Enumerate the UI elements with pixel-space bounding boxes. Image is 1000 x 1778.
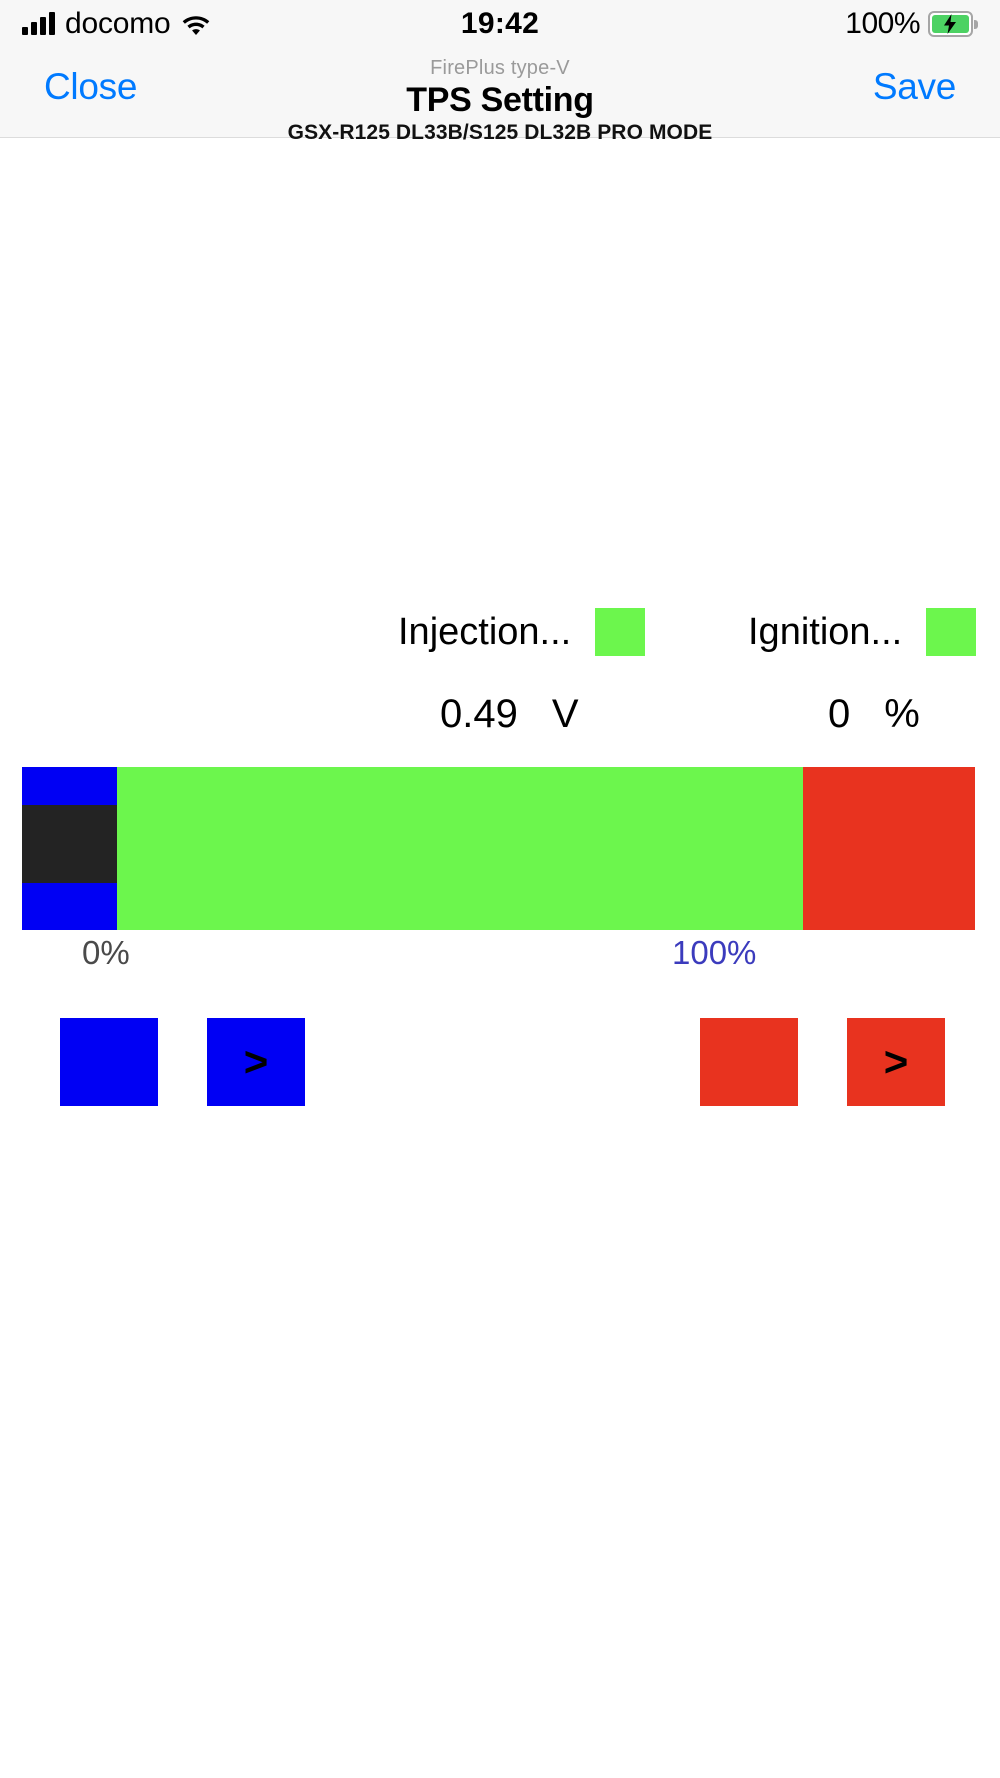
range-bar-min-segment <box>22 767 117 930</box>
status-bar-left: docomo <box>22 7 211 41</box>
battery-charging-icon <box>928 11 978 37</box>
navigation-title-group: FirePlus type-V TPS Setting GSX-R125 DL3… <box>0 56 1000 146</box>
status-bar-right: 100% <box>845 7 978 41</box>
page-subtitle: GSX-R125 DL33B/S125 DL32B PRO MODE <box>0 120 1000 146</box>
range-bar-min-knob[interactable] <box>22 805 117 883</box>
scale-label-min: 0% <box>82 934 130 972</box>
battery-percent-label: 100% <box>845 7 920 41</box>
app-name-label: FirePlus type-V <box>0 56 1000 80</box>
range-scale-row: 0% 100% <box>0 934 1000 980</box>
legend-item-injection: Injection... <box>398 608 645 656</box>
scale-label-max: 100% <box>672 934 756 972</box>
tps-range-bar[interactable] <box>22 767 975 930</box>
legend-label-ignition: Ignition... <box>748 611 902 654</box>
legend-swatch-injection <box>595 608 645 656</box>
carrier-name: docomo <box>65 7 171 41</box>
cellular-signal-icon <box>22 13 55 35</box>
reading-row: 0.49 V 0 % <box>0 692 1000 744</box>
reading-ignition-value: 0 <box>828 692 850 737</box>
min-decrease-button[interactable] <box>60 1018 158 1106</box>
legend-row: Injection... Ignition... <box>0 608 1000 658</box>
reading-injection-unit: V <box>552 692 579 737</box>
max-increase-button[interactable]: > <box>847 1018 945 1106</box>
stepper-button-row: > > <box>0 1018 1000 1108</box>
reading-ignition: 0 % <box>828 692 920 737</box>
reading-injection-value: 0.49 <box>440 692 518 737</box>
navigation-bar: Close Save FirePlus type-V TPS Setting G… <box>0 48 1000 138</box>
legend-swatch-ignition <box>926 608 976 656</box>
app-screen: docomo 19:42 100% <box>0 0 1000 1778</box>
status-bar: docomo 19:42 100% <box>0 0 1000 48</box>
legend-item-ignition: Ignition... <box>748 608 976 656</box>
range-bar-max-segment <box>803 767 975 930</box>
legend-label-injection: Injection... <box>398 611 571 654</box>
max-decrease-button[interactable] <box>700 1018 798 1106</box>
reading-injection: 0.49 V <box>440 692 579 737</box>
wifi-icon <box>181 12 211 36</box>
range-bar-active-segment <box>117 767 803 930</box>
min-increase-button[interactable]: > <box>207 1018 305 1106</box>
reading-ignition-unit: % <box>884 692 920 737</box>
page-title: TPS Setting <box>0 80 1000 120</box>
